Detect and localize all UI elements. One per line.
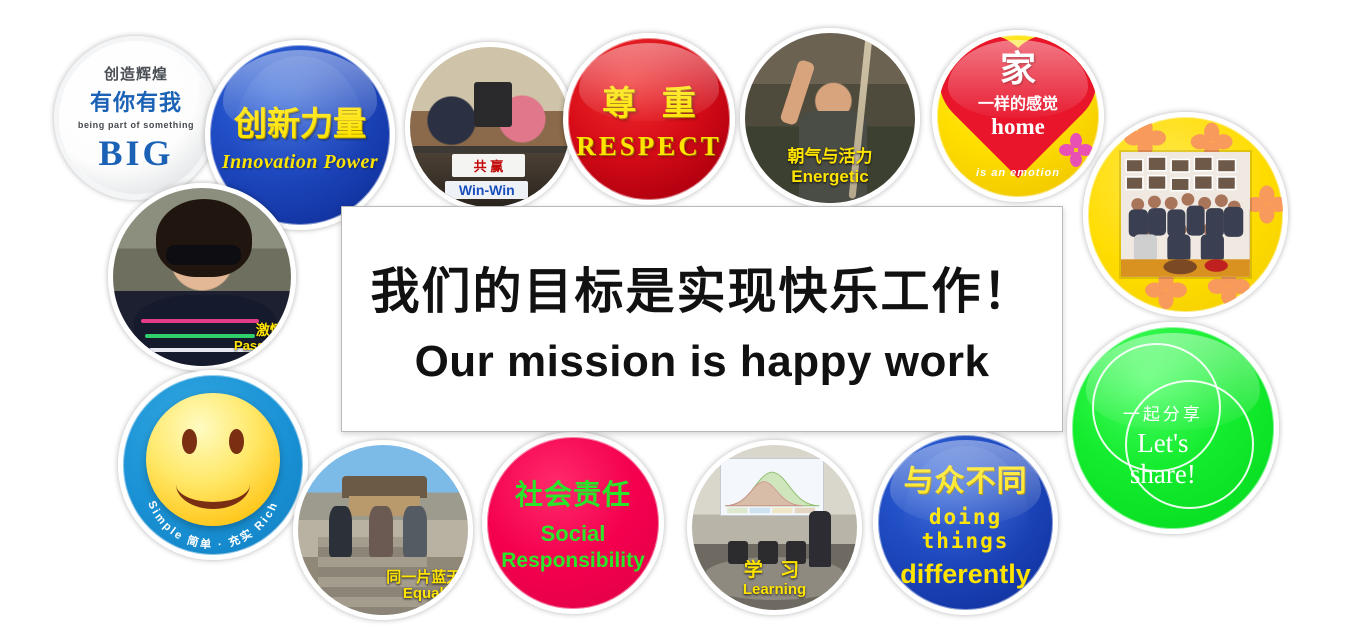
badge-win-win-photo[interactable]: 共 赢 Win-Win	[405, 42, 575, 212]
badge-home-sub-chinese: 一样的感觉	[978, 90, 1058, 114]
badge-social-responsibility[interactable]: 社会责任 Social Responsibility	[482, 432, 664, 614]
badge-big-line2: 有你有我	[90, 85, 182, 117]
badge-smiley-arc-text: Simple 简单 · 充实 Rich	[145, 499, 281, 552]
badge-team-celebration[interactable]	[1083, 112, 1288, 317]
badge-respect[interactable]: 尊 重 RESPECT	[563, 33, 735, 205]
badge-equality-english: Equality	[349, 586, 461, 603]
mission-english: Our mission is happy work	[415, 337, 990, 387]
badge-learning-english: Learning	[692, 582, 857, 599]
pavilion-roof	[342, 476, 427, 498]
badge-innovation-chinese: 创新力量	[234, 97, 366, 145]
badge-share-english-2: share!	[1100, 459, 1225, 490]
badge-social-english-2: Responsibility	[501, 549, 645, 573]
badge-different-english-1: doing things	[878, 505, 1053, 553]
badge-different-chinese: 与众不同	[904, 456, 1028, 500]
badge-simple-rich-smiley[interactable]: Simple 简单 · 充实 Rich	[118, 370, 308, 560]
badge-passion-english: Passion	[174, 339, 284, 354]
badge-passion-photo[interactable]: 激情 Passion	[108, 183, 296, 371]
badge-energetic-photo[interactable]: 朝气与活力 Energetic	[740, 28, 920, 208]
badge-equality-chinese: 同一片蓝天	[349, 570, 461, 587]
badge-winwin-english: Win-Win	[445, 181, 528, 199]
badge-equality-photo[interactable]: 同一片蓝天 Equality	[293, 440, 473, 620]
badge-learning-chinese: 学 习	[692, 560, 857, 581]
projector-screen	[720, 458, 824, 516]
mission-chinese: 我们的目标是实现快乐工作！	[370, 252, 1033, 323]
badge-lets-share[interactable]: 一起分享 Let's share!	[1067, 322, 1279, 534]
badge-equality-caption: 同一片蓝天 Equality	[349, 570, 461, 604]
badge-different-english-2: differently	[900, 559, 1031, 590]
group-photo	[1121, 152, 1250, 277]
badge-energetic-english: Energetic	[745, 167, 915, 186]
badge-respect-english: RESPECT	[576, 131, 722, 162]
badge-smiley-arc-text-wrap: Simple 简单 · 充实 Rich	[123, 375, 303, 555]
badge-passion-caption: 激情 Passion	[174, 323, 284, 353]
badge-big-line4: BIG	[98, 132, 173, 174]
badge-share-chinese: 一起分享	[1100, 400, 1225, 425]
badge-learning-caption: 学 习 Learning	[692, 560, 857, 598]
badge-respect-chinese: 尊 重	[594, 76, 703, 125]
badge-being-part-of-something-big[interactable]: 创造辉煌 有你有我 being part of something BIG	[54, 36, 218, 200]
badge-social-chinese: 社会责任	[515, 473, 631, 513]
badge-passion-chinese: 激情	[174, 323, 284, 339]
hair-shape	[156, 199, 252, 277]
badge-share-english-1: Let's	[1100, 428, 1225, 459]
badge-learning-photo[interactable]: 学 习 Learning	[687, 440, 862, 615]
badge-home-tagline: is an emotion	[937, 167, 1099, 179]
badge-energetic-chinese: 朝气与活力	[745, 147, 915, 166]
culture-values-banner: 创造辉煌 有你有我 being part of something BIG 创新…	[0, 0, 1366, 635]
badge-big-line1: 创造辉煌	[104, 63, 168, 84]
badge-home-char: 家	[1000, 51, 1036, 87]
monitor-shape	[474, 82, 512, 127]
badge-home-is-an-emotion[interactable]: 家 一样的感觉 home is an emotion	[932, 30, 1104, 202]
badge-innovation-english: Innovation Power	[222, 151, 378, 174]
badge-big-line3: being part of something	[78, 120, 194, 130]
badge-social-english-1: Social	[541, 521, 606, 547]
mission-statement-panel: 我们的目标是实现快乐工作！ Our mission is happy work	[341, 206, 1063, 432]
badge-home-english: home	[991, 114, 1045, 140]
flower-icon	[1059, 133, 1093, 167]
badge-winwin-chinese: 共 赢	[452, 154, 526, 177]
badge-energetic-caption: 朝气与活力 Energetic	[745, 147, 915, 186]
sunglasses-shape	[166, 245, 241, 265]
badge-doing-things-differently[interactable]: 与众不同 doing things differently	[873, 430, 1058, 615]
